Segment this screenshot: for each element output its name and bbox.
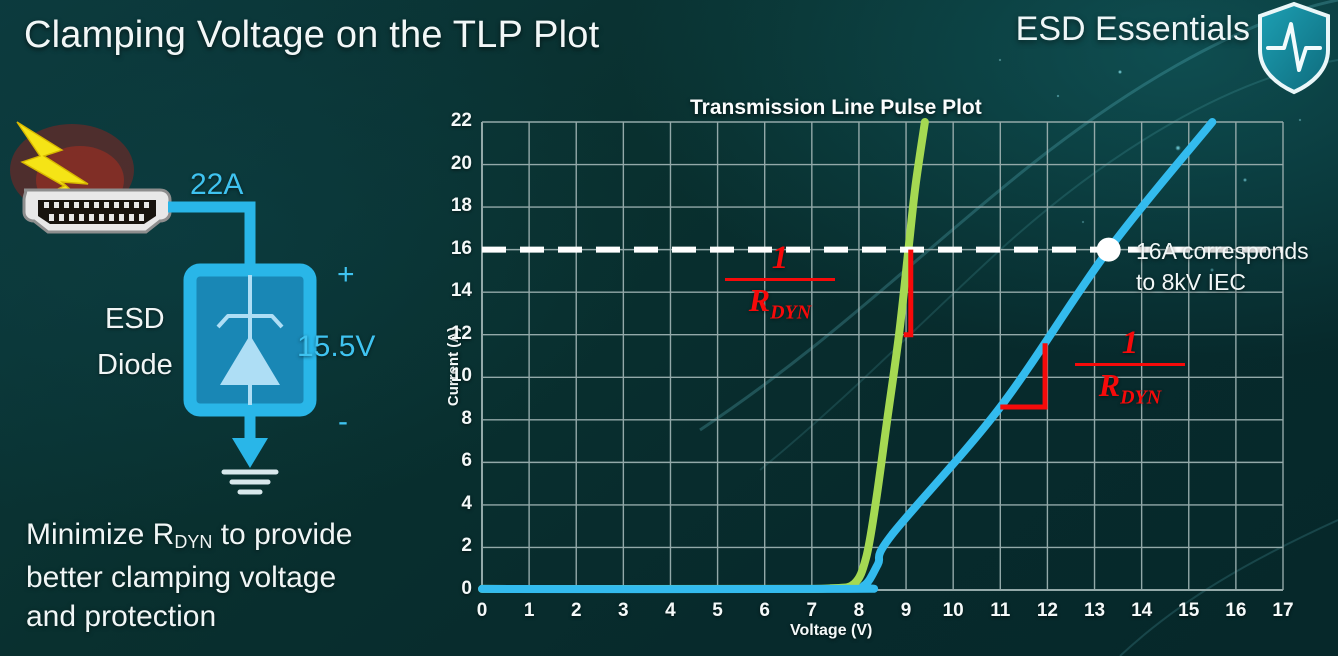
chart-x-axis-label: Voltage (V) (790, 622, 872, 640)
x-axis-tick: 9 (891, 600, 921, 622)
denominator-subscript: DYN (1120, 386, 1161, 408)
slope-label-low-rdyn: 1 RDYN (725, 243, 835, 329)
denominator-base: R (749, 282, 770, 318)
hdmi-connector-icon (24, 190, 170, 232)
y-axis-tick: 0 (438, 578, 472, 600)
page-title: Clamping Voltage on the TLP Plot (24, 14, 599, 57)
signal-wire (168, 207, 250, 270)
x-axis-tick: 3 (608, 600, 638, 622)
y-axis-tick: 20 (438, 153, 472, 175)
y-axis-tick: 14 (438, 280, 472, 302)
caption-line-3: and protection (26, 597, 352, 636)
caption-line-1: Minimize RDYN to provide (26, 515, 352, 558)
x-axis-tick: 14 (1127, 600, 1157, 622)
annotation-line-2: to 8kV IEC (1136, 267, 1309, 298)
slope-numerator: 1 (725, 243, 835, 273)
y-axis-tick: 4 (438, 493, 472, 515)
x-axis-tick: 12 (1032, 600, 1062, 622)
x-axis-tick: 15 (1174, 600, 1204, 622)
slope-denominator: RDYN (1075, 368, 1185, 414)
y-axis-tick: 16 (438, 238, 472, 260)
current-label: 22A (190, 168, 243, 202)
x-axis-tick: 17 (1268, 600, 1298, 622)
x-axis-tick: 1 (514, 600, 544, 622)
current-arrow-icon (232, 438, 268, 468)
x-axis-tick: 16 (1221, 600, 1251, 622)
y-axis-tick: 12 (438, 323, 472, 345)
device-label-line1: ESD (105, 303, 165, 336)
caption-subscript: DYN (174, 532, 212, 552)
slope-denominator: RDYN (725, 283, 835, 329)
fraction-bar (725, 278, 835, 281)
denominator-subscript: DYN (770, 301, 811, 323)
x-axis-tick: 2 (561, 600, 591, 622)
x-axis-tick: 8 (844, 600, 874, 622)
y-axis-tick: 22 (438, 110, 472, 132)
x-axis-tick: 5 (703, 600, 733, 622)
y-axis-tick: 10 (438, 365, 472, 387)
chart-plot-area (430, 88, 1338, 656)
x-axis-tick: 11 (985, 600, 1015, 622)
x-axis-tick: 13 (1080, 600, 1110, 622)
ground-symbol-icon (224, 472, 276, 492)
chart-title: Transmission Line Pulse Plot (690, 96, 982, 120)
tvs-diode-symbol-icon (190, 270, 310, 410)
polarity-plus-label: + (337, 258, 355, 292)
caption-text-post: to provide (212, 518, 352, 551)
operating-point-marker (1097, 238, 1121, 262)
y-axis-tick: 8 (438, 408, 472, 430)
x-axis-tick: 4 (655, 600, 685, 622)
shield-pulse-logo-icon (1252, 0, 1336, 96)
x-axis-tick: 6 (750, 600, 780, 622)
slope-numerator: 1 (1075, 328, 1185, 358)
fraction-bar (1075, 363, 1185, 366)
y-axis-tick: 6 (438, 450, 472, 472)
x-axis-tick: 7 (797, 600, 827, 622)
reference-line-annotation: 16A corresponds to 8kV IEC (1136, 236, 1309, 298)
polarity-minus-label: - (338, 405, 348, 439)
x-axis-tick: 10 (938, 600, 968, 622)
summary-caption: Minimize RDYN to provide better clamping… (26, 515, 352, 636)
chart-slope-annotations (904, 250, 1045, 407)
brand-label: ESD Essentials (1016, 10, 1250, 49)
slope-label-high-rdyn: 1 RDYN (1075, 328, 1185, 414)
x-axis-tick: 0 (467, 600, 497, 622)
caption-text-pre: Minimize R (26, 518, 174, 551)
device-label-line2: Diode (97, 349, 173, 382)
annotation-line-1: 16A corresponds (1136, 236, 1309, 267)
y-axis-tick: 18 (438, 195, 472, 217)
caption-line-2: better clamping voltage (26, 558, 352, 597)
denominator-base: R (1099, 367, 1120, 403)
tlp-chart: Transmission Line Pulse Plot Current (A)… (430, 88, 1338, 656)
chart-markers (1097, 238, 1121, 262)
clamp-voltage-label: 15.5V (297, 330, 375, 364)
y-axis-tick: 2 (438, 535, 472, 557)
slide-canvas: Clamping Voltage on the TLP Plot ESD Ess… (0, 0, 1338, 656)
